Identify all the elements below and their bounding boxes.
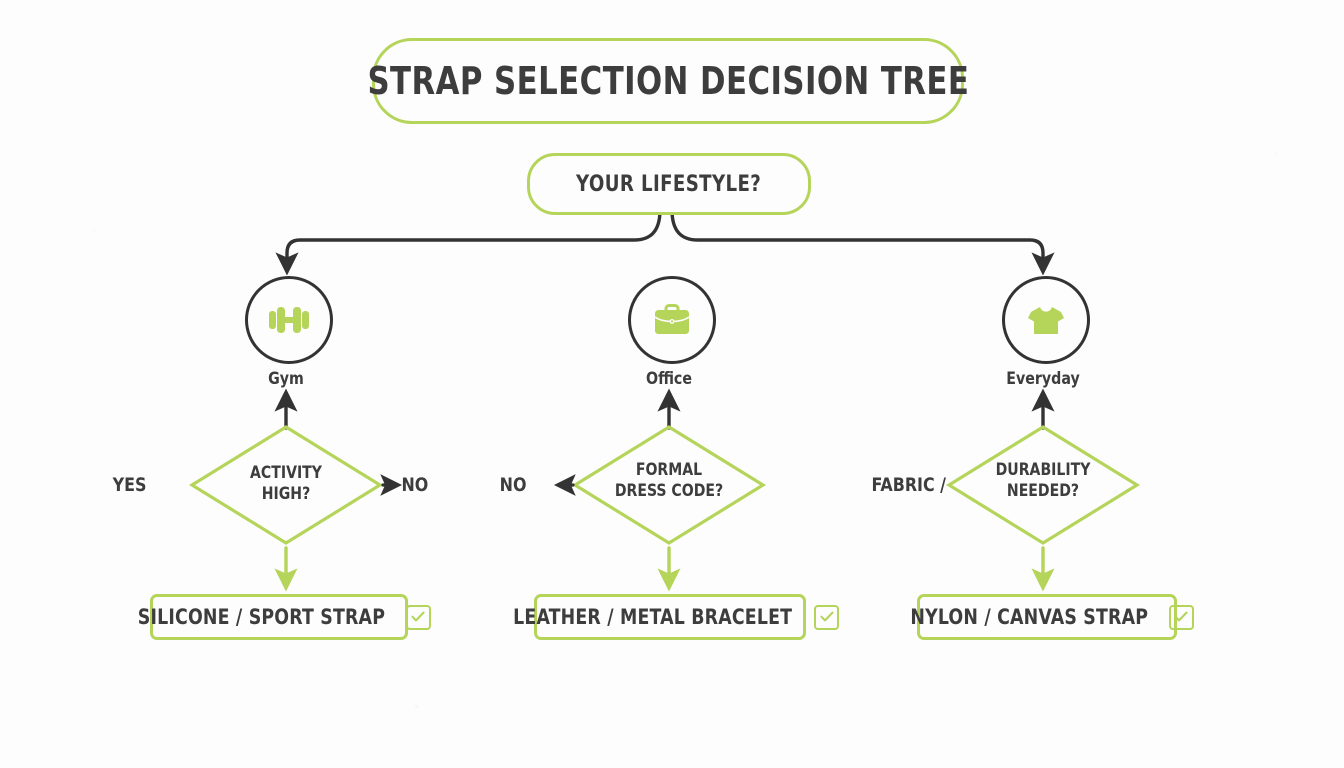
- result-box-everyday[interactable]: NYLON / CANVAS STRAP: [917, 594, 1177, 640]
- diamond-label-line1: DURABILITY: [946, 460, 1139, 481]
- diamond-label-durability-needed: DURABILITY NEEDED?: [946, 460, 1139, 502]
- dumbbell-icon: [266, 297, 312, 343]
- root-question-node[interactable]: YOUR LIFESTYLE?: [527, 153, 811, 215]
- result-box-gym[interactable]: SILICONE / SPORT STRAP: [150, 594, 408, 640]
- diamond-label-line1: ACTIVITY: [189, 463, 382, 484]
- connector-root-to-everyday: [672, 210, 1043, 268]
- diamond-label-line1: FORMAL: [572, 460, 765, 481]
- tshirt-icon: [1023, 297, 1069, 343]
- result-label-everyday: NYLON / CANVAS STRAP: [911, 605, 1149, 629]
- diamond-label-line2: DRESS CODE?: [572, 481, 765, 502]
- result-label-office: LEATHER / METAL BRACELET: [513, 605, 792, 629]
- diamond-label-line2: NEEDED?: [946, 481, 1139, 502]
- decision-tree-diagram: STRAP SELECTION DECISION TREE YOUR LIFES…: [0, 0, 1344, 768]
- diamond-label-line2: HIGH?: [189, 484, 382, 505]
- diamond-label-formal-dress-code: FORMAL DRESS CODE?: [572, 460, 765, 502]
- connector-root-to-gym: [287, 210, 660, 268]
- diagram-title-pill: STRAP SELECTION DECISION TREE: [372, 38, 964, 124]
- page-title: STRAP SELECTION DECISION TREE: [367, 59, 969, 103]
- check-icon: [814, 605, 839, 630]
- check-icon: [406, 605, 431, 630]
- result-label-gym: SILICONE / SPORT STRAP: [138, 605, 385, 629]
- briefcase-icon: [649, 297, 695, 343]
- edge-label-everyday-fabric: FABRIC /: [839, 474, 946, 496]
- check-icon: [1169, 605, 1194, 630]
- edge-label-office-no: NO: [434, 474, 527, 496]
- result-box-office[interactable]: LEATHER / METAL BRACELET: [534, 594, 806, 640]
- branch-icon-everyday[interactable]: [1002, 276, 1090, 364]
- branch-label-gym: Gym: [193, 369, 379, 389]
- branch-icon-gym[interactable]: [245, 276, 333, 364]
- edge-label-gym-yes: YES: [54, 474, 147, 496]
- root-question-label: YOUR LIFESTYLE?: [576, 172, 761, 197]
- diamond-label-activity-high: ACTIVITY HIGH?: [189, 463, 382, 505]
- branch-label-everyday: Everyday: [950, 369, 1136, 389]
- branch-label-office: Office: [576, 369, 762, 389]
- branch-icon-office[interactable]: [628, 276, 716, 364]
